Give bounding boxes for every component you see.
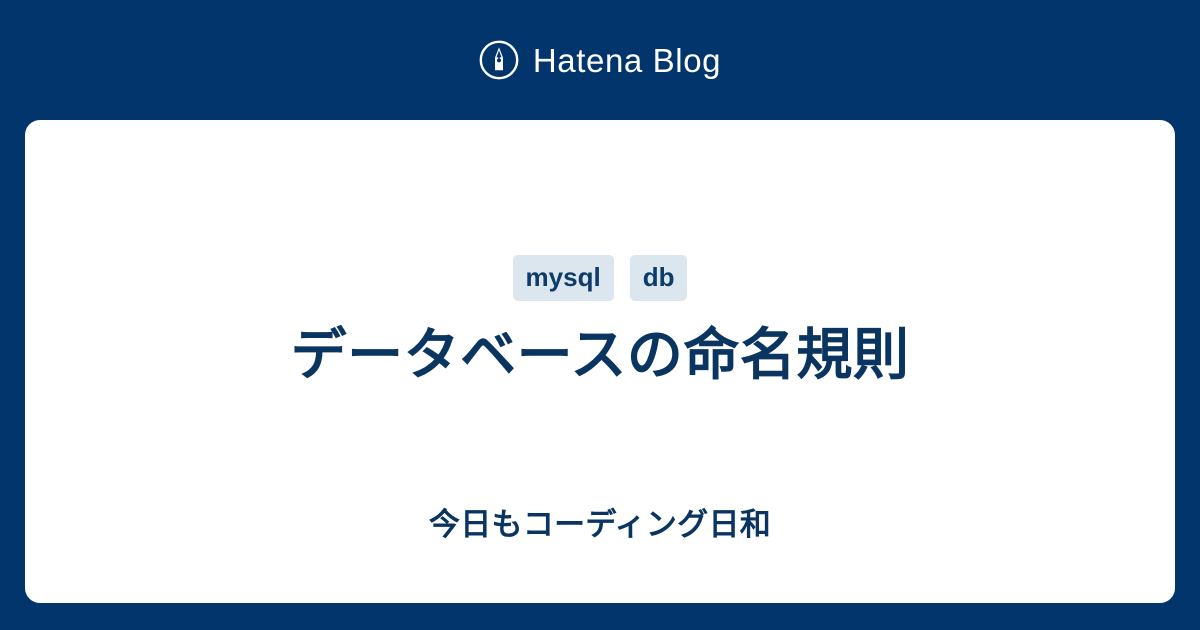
entry-card: mysql db データベースの命名規則 今日もコーディング日和 xyxy=(25,120,1175,603)
tag-list: mysql db xyxy=(25,255,1175,301)
hatena-pen-nib-icon xyxy=(479,40,519,80)
hatena-blog-brand: Hatena Blog xyxy=(0,0,1200,120)
tag-item[interactable]: db xyxy=(630,255,688,301)
entry-title: データベースの命名規則 xyxy=(65,318,1135,392)
brand-name: Hatena Blog xyxy=(533,44,721,77)
blog-title: 今日もコーディング日和 xyxy=(65,505,1135,545)
og-image-canvas: Hatena Blog mysql db データベースの命名規則 今日もコーディ… xyxy=(0,0,1200,630)
tag-item[interactable]: mysql xyxy=(513,255,614,301)
